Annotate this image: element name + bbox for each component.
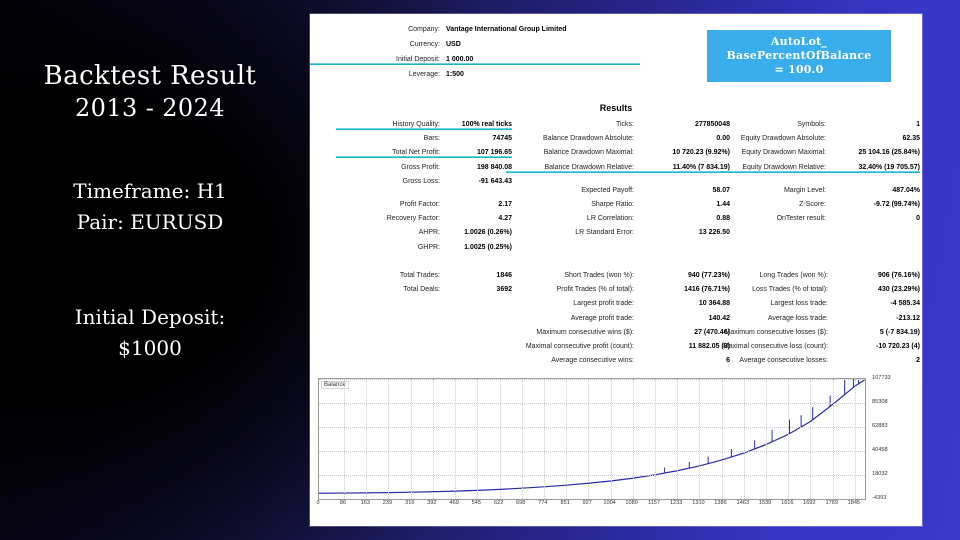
- trades-middle-row: Average profit trade:140.42: [496, 313, 730, 324]
- stat-middle-value: 1.44: [634, 199, 730, 210]
- account-header-row: Currency:USD: [310, 39, 640, 50]
- stat-middle-row: LR Correlation:0.88: [506, 213, 730, 224]
- stat-middle-label: Sharpe Ratio:: [506, 199, 634, 210]
- stat-left-row: GHPR:1.0025 (0.25%): [336, 242, 512, 253]
- stat-middle-label: Balance Drawdown Maximal:: [506, 147, 634, 158]
- results-heading: Results: [310, 103, 922, 113]
- chart-x-tick-label: 392: [427, 500, 436, 506]
- stat-right-value: 62.35: [826, 133, 920, 144]
- chart-x-tick-label: 1539: [759, 500, 771, 506]
- trades-middle-row: Short Trades (won %):940 (77.23%): [496, 270, 730, 281]
- chart-x-tick-label: 239: [383, 500, 392, 506]
- stat-left-value: 74745: [440, 133, 512, 144]
- chart-gridline-vertical: [566, 379, 567, 499]
- trades-right-label: Average loss trade:: [706, 313, 828, 324]
- page-title: Backtest Result 2013 - 2024: [44, 60, 257, 124]
- chart-gridline-vertical: [522, 379, 523, 499]
- stat-left-row: Gross Profit:198 840.08: [336, 162, 512, 173]
- stat-left-row: Total Net Profit:107 196.65: [336, 147, 512, 158]
- stat-right-row: Symbols:1: [720, 119, 920, 130]
- balance-chart: Balance 08616323931639246954562269877485…: [316, 374, 916, 520]
- trades-column-middle: Short Trades (won %):940 (77.23%)Profit …: [496, 270, 730, 369]
- chart-x-tick-label: 622: [494, 500, 503, 506]
- chart-x-tick-label: 316: [405, 500, 414, 506]
- stat-right-value: 25 104.16 (25.84%): [826, 147, 920, 158]
- account-header-label: Currency:: [310, 39, 440, 50]
- chart-gridline-vertical: [477, 379, 478, 499]
- balance-curve: [319, 379, 865, 499]
- stat-right-label: Z-Score:: [720, 199, 826, 210]
- stats-column-middle: Ticks:277850048Balance Drawdown Absolute…: [506, 119, 730, 242]
- stat-middle-row: Sharpe Ratio:1.44: [506, 199, 730, 210]
- stat-middle-row: LR Standard Error:13 226.50: [506, 227, 730, 238]
- trades-right-row: Loss Trades (% of total):430 (23.29%): [706, 284, 920, 295]
- chart-gridline-vertical: [722, 379, 723, 499]
- stat-left-label: Bars:: [336, 133, 440, 144]
- stat-left-row: History Quality:100% real ticks: [336, 119, 512, 130]
- stat-left-value: 1.0026 (0.26%): [440, 227, 512, 238]
- trades-right-value: -10 720.23 (4): [828, 341, 920, 352]
- stat-left-row: Gross Loss:-91 643.43: [336, 176, 512, 187]
- stat-middle-label: LR Standard Error:: [506, 227, 634, 238]
- trades-middle-label: Short Trades (won %):: [496, 270, 634, 281]
- stat-right-row: Equity Drawdown Relative:32.40% (19 705.…: [720, 162, 920, 173]
- chart-x-axis: 0861632393163924695456226987748519271004…: [318, 500, 864, 512]
- stats-column-right: Symbols:1Equity Drawdown Absolute:62.35E…: [720, 119, 920, 227]
- stat-left-row: Recovery Factor:4.27: [336, 213, 512, 224]
- stat-middle-row: Balance Drawdown Relative:11.40% (7 834.…: [506, 162, 730, 173]
- chart-y-tick-label: 107733: [872, 375, 891, 381]
- chart-x-tick-label: 851: [560, 500, 569, 506]
- stat-left-label: AHPR:: [336, 227, 440, 238]
- stat-middle-label: Ticks:: [506, 119, 634, 130]
- chart-x-tick-label: 1004: [603, 500, 615, 506]
- stat-right-row: OnTester result:0: [720, 213, 920, 224]
- chart-x-tick-label: 774: [538, 500, 547, 506]
- trades-middle-row: Maximum consecutive wins ($):27 (470.46): [496, 327, 730, 338]
- stat-middle-label: Balance Drawdown Relative:: [506, 162, 634, 173]
- trades-column-left: Total Trades:1846Total Deals:3692: [336, 270, 512, 298]
- stat-right-label: Equity Drawdown Absolute:: [720, 133, 826, 144]
- stat-left-label: Gross Loss:: [336, 176, 440, 187]
- trades-middle-row: Profit Trades (% of total):1416 (76.71%): [496, 284, 730, 295]
- chart-gridline-vertical: [810, 379, 811, 499]
- chart-gridline-horizontal: [319, 475, 865, 476]
- account-header-row: Leverage:1:500: [310, 69, 640, 80]
- stats-column-left: History Quality:100% real ticksBars:7474…: [336, 119, 512, 256]
- chart-gridline-vertical: [411, 379, 412, 499]
- trades-right-value: 906 (76.16%): [828, 270, 920, 281]
- stat-right-label: Symbols:: [720, 119, 826, 130]
- stat-middle-row: Expected Payoff:58.07: [506, 185, 730, 196]
- stat-right-row: Margin Level:487.04%: [720, 185, 920, 196]
- stat-middle-label: Balance Drawdown Absolute:: [506, 133, 634, 144]
- chart-gridline-vertical: [855, 379, 856, 499]
- balance-line: [319, 380, 865, 494]
- trades-right-label: Average consecutive losses:: [706, 355, 828, 366]
- chart-y-tick-label: 18032: [872, 471, 888, 477]
- trades-right-label: Largest loss trade:: [706, 298, 828, 309]
- chart-x-tick-label: 1157: [648, 500, 660, 506]
- chart-x-tick-label: 1616: [781, 500, 793, 506]
- stat-left-value: 1.0025 (0.25%): [440, 242, 512, 253]
- trades-right-value: 2: [828, 355, 920, 366]
- deposit-value: $1000: [75, 333, 225, 364]
- timeframe-label: Timeframe: H1: [73, 176, 227, 207]
- trades-left-row: Total Deals:3692: [336, 284, 512, 295]
- trades-left-row: Total Trades:1846: [336, 270, 512, 281]
- badge-line-3: = 100.0: [775, 63, 824, 77]
- trades-right-row: Maximal consecutive loss (count):-10 720…: [706, 341, 920, 352]
- account-header-value: 1:500: [440, 69, 464, 80]
- stat-right-row: Z-Score:-9.72 (99.74%): [720, 199, 920, 210]
- trades-column-right: Long Trades (won %):906 (76.16%)Loss Tra…: [706, 270, 920, 369]
- deposit-info: Initial Deposit: $1000: [75, 302, 225, 364]
- stat-left-value: 2.17: [440, 199, 512, 210]
- stat-middle-value: 277850048: [634, 119, 730, 130]
- chart-gridline-vertical: [500, 379, 501, 499]
- stat-middle-value: 58.07: [634, 185, 730, 196]
- stat-left-label: Profit Factor:: [336, 199, 440, 210]
- stat-left-row: Bars:74745: [336, 133, 512, 144]
- chart-gridline-vertical: [344, 379, 345, 499]
- stat-middle-value: 0.00: [634, 133, 730, 144]
- account-header: Company:Vantage International Group Limi…: [310, 24, 640, 84]
- title-line-1: Backtest Result: [44, 60, 257, 93]
- account-header-value: Vantage International Group Limited: [440, 24, 567, 35]
- stat-left-label: Recovery Factor:: [336, 213, 440, 224]
- strategy-tester-report: Company:Vantage International Group Limi…: [310, 14, 922, 526]
- trades-middle-label: Average consecutive wins:: [496, 355, 634, 366]
- chart-gridline-horizontal: [319, 379, 865, 380]
- chart-gridline-vertical: [655, 379, 656, 499]
- trades-middle-label: Maximum consecutive wins ($):: [496, 327, 634, 338]
- trades-right-row: Maximum consecutive losses ($):5 (-7 834…: [706, 327, 920, 338]
- badge-line-2: BasePercentOfBalance: [727, 49, 872, 63]
- account-header-row: Company:Vantage International Group Limi…: [310, 24, 640, 35]
- trades-right-value: -4 585.34: [828, 298, 920, 309]
- stat-right-value: -9.72 (99.74%): [826, 199, 920, 210]
- chart-gridline-vertical: [833, 379, 834, 499]
- chart-gridline-vertical: [633, 379, 634, 499]
- chart-gridline-vertical: [366, 379, 367, 499]
- stat-right-label: Margin Level:: [720, 185, 826, 196]
- trades-right-label: Maximal consecutive loss (count):: [706, 341, 828, 352]
- chart-x-tick-label: 1310: [692, 500, 704, 506]
- chart-x-tick-label: 469: [450, 500, 459, 506]
- chart-gridline-horizontal: [319, 427, 865, 428]
- trades-right-row: Largest loss trade:-4 585.34: [706, 298, 920, 309]
- chart-gridline-vertical: [677, 379, 678, 499]
- stat-middle-row: Ticks:277850048: [506, 119, 730, 130]
- stat-left-label: Gross Profit:: [336, 162, 440, 173]
- caption-panel: Backtest Result 2013 - 2024 Timeframe: H…: [0, 0, 300, 540]
- account-header-value: 1 000.00: [440, 54, 473, 65]
- account-header-label: Initial Deposit:: [310, 54, 440, 65]
- account-header-row: Initial Deposit:1 000.00: [310, 54, 640, 65]
- autolot-parameter-badge: AutoLot_ BasePercentOfBalance = 100.0: [707, 30, 891, 82]
- title-line-2: 2013 - 2024: [44, 93, 257, 124]
- chart-x-tick-label: 1233: [670, 500, 682, 506]
- chart-gridline-vertical: [766, 379, 767, 499]
- badge-line-1: AutoLot_: [771, 35, 827, 49]
- chart-y-tick-label: -4393: [872, 495, 886, 501]
- chart-x-tick-label: 545: [472, 500, 481, 506]
- stat-middle-row: Balance Drawdown Absolute:0.00: [506, 133, 730, 144]
- trades-left-label: Total Deals:: [336, 284, 440, 295]
- chart-x-tick-label: 86: [340, 500, 346, 506]
- stat-middle-row: Balance Drawdown Maximal:10 720.23 (9.92…: [506, 147, 730, 158]
- chart-x-tick-label: 1080: [625, 500, 637, 506]
- chart-y-tick-label: 40458: [872, 447, 888, 453]
- stat-middle-label: LR Correlation:: [506, 213, 634, 224]
- chart-gridline-vertical: [699, 379, 700, 499]
- slide-canvas: Backtest Result 2013 - 2024 Timeframe: H…: [0, 0, 960, 540]
- stat-right-value: 0: [826, 213, 920, 224]
- trades-middle-label: Largest profit trade:: [496, 298, 634, 309]
- account-header-label: Leverage:: [310, 69, 440, 80]
- chart-gridline-vertical: [433, 379, 434, 499]
- trades-right-row: Average consecutive losses:2: [706, 355, 920, 366]
- chart-gridline-vertical: [544, 379, 545, 499]
- setup-info: Timeframe: H1 Pair: EURUSD: [73, 176, 227, 238]
- chart-y-axis: 10773385308628834045818032-4393: [868, 378, 914, 498]
- trades-right-label: Maximum consecutive losses ($):: [706, 327, 828, 338]
- trades-middle-label: Maximal consecutive profit (count):: [496, 341, 634, 352]
- chart-x-tick-label: 1769: [826, 500, 838, 506]
- stat-right-label: Equity Drawdown Maximal:: [720, 147, 826, 158]
- trades-right-value: -213.12: [828, 313, 920, 324]
- stat-middle-value: 10 720.23 (9.92%): [634, 147, 730, 158]
- stat-left-spacer: [336, 190, 512, 199]
- chart-x-tick-label: 163: [361, 500, 370, 506]
- trades-middle-row: Maximal consecutive profit (count):11 88…: [496, 341, 730, 352]
- stat-middle-spacer: [506, 176, 730, 185]
- chart-gridline-vertical: [455, 379, 456, 499]
- chart-x-tick-label: 698: [516, 500, 525, 506]
- chart-gridline-vertical: [788, 379, 789, 499]
- stat-left-value: 4.27: [440, 213, 512, 224]
- stat-right-label: Equity Drawdown Relative:: [720, 162, 826, 173]
- stat-right-value: 32.40% (19 705.57): [826, 162, 920, 173]
- chart-x-tick-label: 1692: [803, 500, 815, 506]
- stat-left-label: Total Net Profit:: [336, 147, 440, 158]
- deposit-label: Initial Deposit:: [75, 302, 225, 333]
- stat-middle-value: 0.88: [634, 213, 730, 224]
- stat-left-value: 100% real ticks: [440, 119, 512, 130]
- pair-label: Pair: EURUSD: [73, 207, 227, 238]
- stat-middle-value: 13 226.50: [634, 227, 730, 238]
- stat-right-row: Equity Drawdown Absolute:62.35: [720, 133, 920, 144]
- trades-middle-row: Largest profit trade:10 364.88: [496, 298, 730, 309]
- chart-gridline-vertical: [744, 379, 745, 499]
- stat-right-row: Equity Drawdown Maximal:25 104.16 (25.84…: [720, 147, 920, 158]
- chart-y-tick-label: 62883: [872, 423, 888, 429]
- chart-gridline-vertical: [388, 379, 389, 499]
- trades-right-label: Long Trades (won %):: [706, 270, 828, 281]
- stat-right-value: 1: [826, 119, 920, 130]
- trades-right-label: Loss Trades (% of total):: [706, 284, 828, 295]
- trades-right-value: 430 (23.29%): [828, 284, 920, 295]
- trades-right-row: Long Trades (won %):906 (76.16%): [706, 270, 920, 281]
- stat-left-label: History Quality:: [336, 119, 440, 130]
- stat-left-label: GHPR:: [336, 242, 440, 253]
- trades-middle-label: Average profit trade:: [496, 313, 634, 324]
- stat-left-value: 107 196.65: [440, 147, 512, 158]
- trades-middle-label: Profit Trades (% of total):: [496, 284, 634, 295]
- chart-x-tick-label: 0: [316, 500, 319, 506]
- stat-left-row: Profit Factor:2.17: [336, 199, 512, 210]
- chart-gridline-horizontal: [319, 403, 865, 404]
- account-header-value: USD: [440, 39, 461, 50]
- chart-x-tick-label: 1386: [714, 500, 726, 506]
- chart-x-tick-label: 1845: [848, 500, 860, 506]
- chart-gridline-vertical: [588, 379, 589, 499]
- trades-left-label: Total Trades:: [336, 270, 440, 281]
- stat-middle-value: 11.40% (7 834.19): [634, 162, 730, 173]
- stat-right-spacer: [720, 176, 920, 185]
- trades-right-value: 5 (-7 834.19): [828, 327, 920, 338]
- chart-plot-area: Balance: [318, 378, 866, 500]
- account-header-label: Company:: [310, 24, 440, 35]
- chart-x-tick-label: 1463: [737, 500, 749, 506]
- chart-y-tick-label: 85308: [872, 399, 888, 405]
- trades-middle-row: Average consecutive wins:6: [496, 355, 730, 366]
- chart-gridline-horizontal: [319, 451, 865, 452]
- stat-left-value: -91 643.43: [440, 176, 512, 187]
- stat-right-label: OnTester result:: [720, 213, 826, 224]
- chart-gridline-vertical: [611, 379, 612, 499]
- stat-right-value: 487.04%: [826, 185, 920, 196]
- trades-right-row: Average loss trade:-213.12: [706, 313, 920, 324]
- stat-middle-label: Expected Payoff:: [506, 185, 634, 196]
- stat-left-row: AHPR:1.0026 (0.26%): [336, 227, 512, 238]
- stat-left-value: 198 840.08: [440, 162, 512, 173]
- chart-x-tick-label: 927: [583, 500, 592, 506]
